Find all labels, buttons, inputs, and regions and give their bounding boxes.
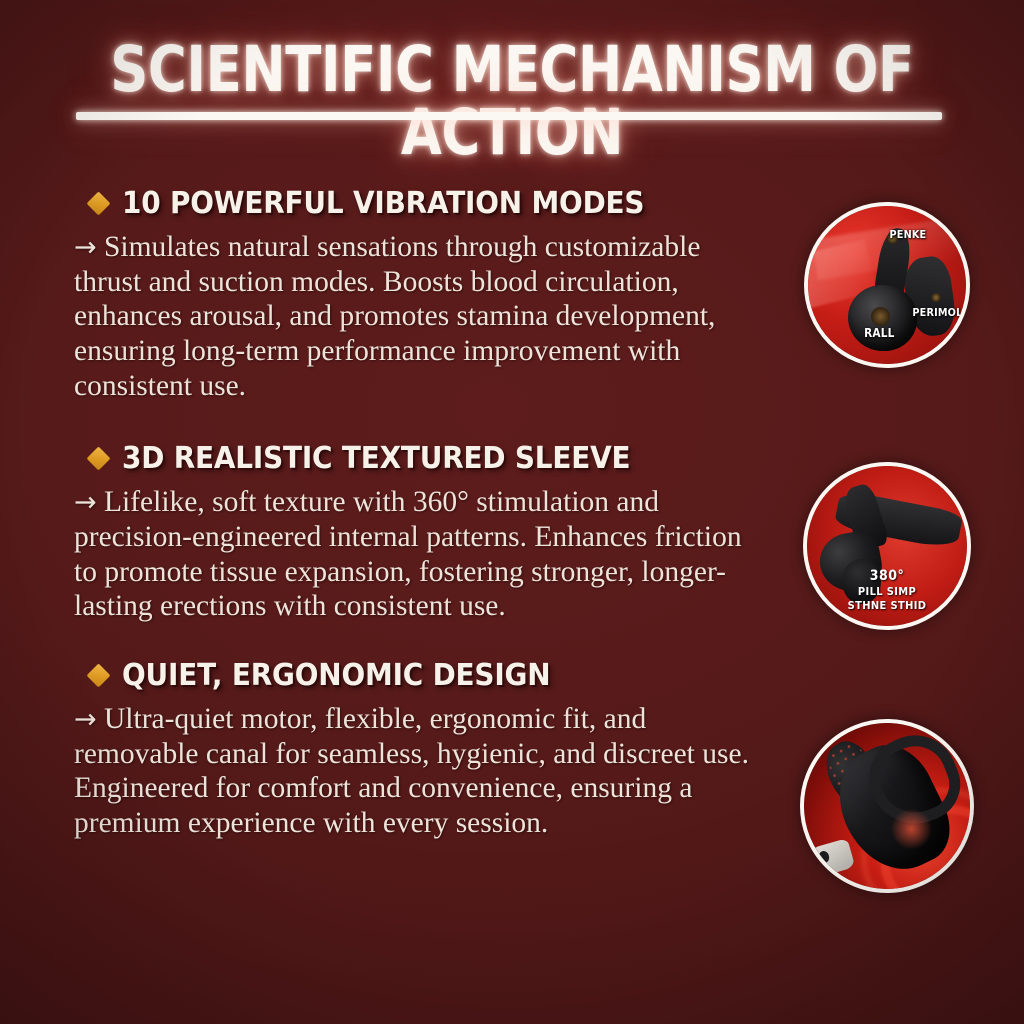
section-body-text: → Simulates natural sensations through c… <box>74 230 764 403</box>
section-body-copy: Lifelike, soft texture with 360° stimula… <box>74 486 742 622</box>
photo-content <box>804 723 970 889</box>
photo-caption-line3: STHNE STHID <box>815 599 959 612</box>
title-underline-rule <box>76 112 942 120</box>
diamond-bullet-icon <box>86 663 110 687</box>
page-title-wrapper: SCIENTIFIC MECHANISM OF ACTION <box>0 38 1024 164</box>
infographic-poster: SCIENTIFIC MECHANISM OF ACTION 10 POWERF… <box>0 0 1024 1024</box>
section-heading-label: 3D REALISTIC TEXTURED SLEEVE <box>122 441 630 476</box>
photo-label-bottom-left: RALL <box>864 326 894 340</box>
section-heading-row: QUIET, ERGONOMIC DESIGN <box>90 658 1024 693</box>
photo-caption-line2: PILL SIMP <box>815 585 959 598</box>
section-body-copy: Ultra-quiet motor, flexible, ergonomic f… <box>74 703 749 839</box>
diamond-bullet-icon <box>86 447 110 471</box>
photo-caption-block: 380° PILL SIMP STHNE STHID <box>815 568 959 612</box>
page-title: SCIENTIFIC MECHANISM OF ACTION <box>82 38 942 164</box>
photo-label-right: PERIMOL <box>913 306 963 319</box>
arrow-icon: → <box>74 704 97 735</box>
section-heading-label: QUIET, ERGONOMIC DESIGN <box>122 658 550 693</box>
photo-label-top: PENKE <box>890 228 927 241</box>
ergonomic-design-photo <box>800 719 974 893</box>
diamond-bullet-icon <box>86 191 110 215</box>
product-screw-secondary-icon <box>931 293 940 302</box>
section-body-text: → Ultra-quiet motor, flexible, ergonomic… <box>74 702 764 841</box>
section-body-copy: Simulates natural sensations through cus… <box>74 231 715 402</box>
vibration-modes-photo: PENKE RALL PERIMOL <box>804 202 970 368</box>
arrow-icon: → <box>74 487 97 518</box>
section-body-text: → Lifelike, soft texture with 360° stimu… <box>74 485 764 624</box>
arrow-icon: → <box>74 232 97 263</box>
textured-sleeve-photo: 380° PILL SIMP STHNE STHID <box>803 462 971 630</box>
photo-content: 380° PILL SIMP STHNE STHID <box>807 466 967 626</box>
photo-content: PENKE RALL PERIMOL <box>808 206 966 364</box>
section-heading-label: 10 POWERFUL VIBRATION MODES <box>122 186 644 221</box>
photo-caption-line1: 380° <box>815 568 959 585</box>
